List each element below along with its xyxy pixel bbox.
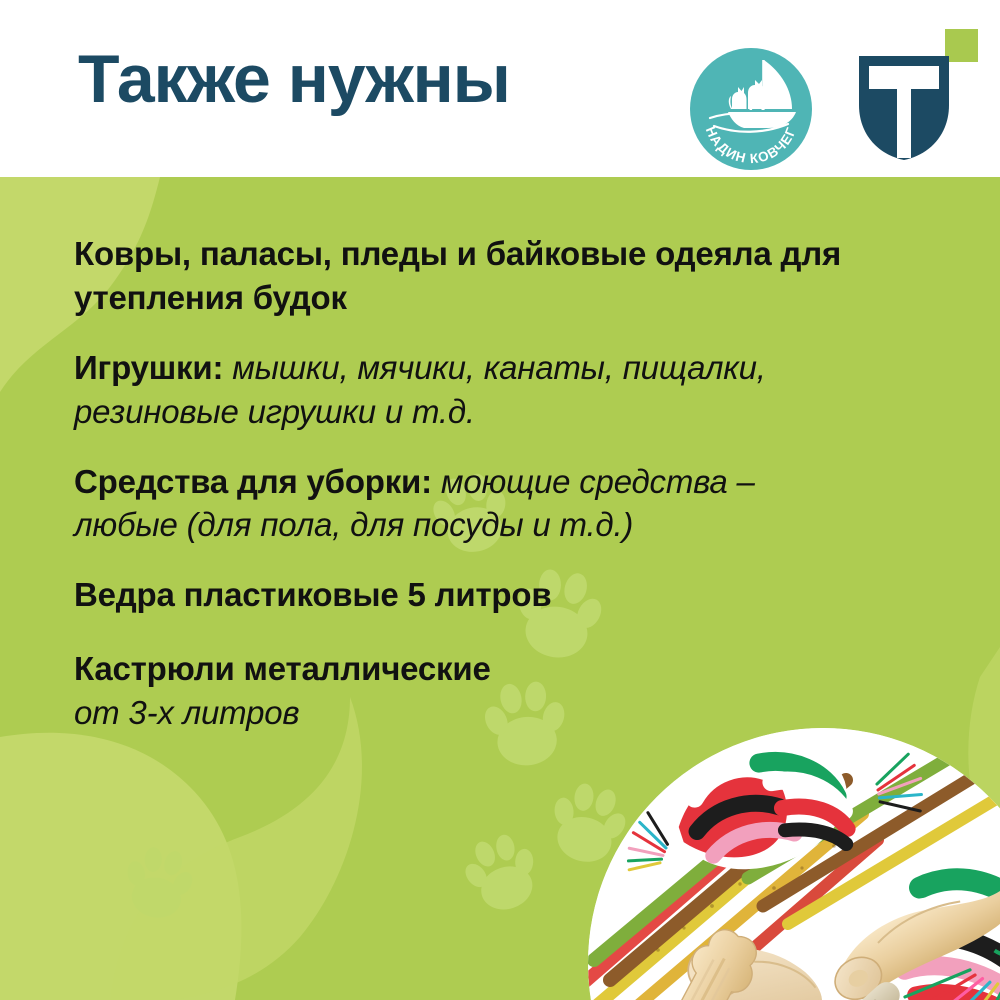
needs-list: Ковры, паласы, пледы и байковые одеяла д… xyxy=(74,232,894,735)
list-item: Кастрюли металлические от 3-х литров xyxy=(74,647,874,735)
list-item-bold: Ведра пластиковые 5 литров xyxy=(74,576,551,613)
nadin-kovcheg-logo: НАДИН КОВЧЕГ xyxy=(688,46,814,172)
list-item-bold: Кастрюли металлические xyxy=(74,650,491,687)
shield-t-logo xyxy=(849,27,980,167)
green-square-icon xyxy=(945,29,978,62)
list-item: Игрушки: мышки, мячики, канаты, пищалки,… xyxy=(74,346,864,434)
list-item-bold: Средства для уборки: xyxy=(74,463,432,500)
poster-canvas: Также нужны НАДИН КОВЧЕГ xyxy=(0,0,1000,1000)
header-bar: Также нужны НАДИН КОВЧЕГ xyxy=(0,0,1000,177)
list-item: Ковры, паласы, пледы и байковые одеяла д… xyxy=(74,232,874,320)
list-item-italic: от 3-х литров xyxy=(74,694,299,731)
list-item: Средства для уборки: моющие средства – л… xyxy=(74,460,864,548)
list-item-bold: Игрушки: xyxy=(74,349,223,386)
page-title: Также нужны xyxy=(78,44,510,115)
green-content-panel: Ковры, паласы, пледы и байковые одеяла д… xyxy=(0,177,1000,1000)
list-item: Ведра пластиковые 5 литров xyxy=(74,573,874,617)
list-item-bold: Ковры, паласы, пледы и байковые одеяла д… xyxy=(74,235,841,316)
